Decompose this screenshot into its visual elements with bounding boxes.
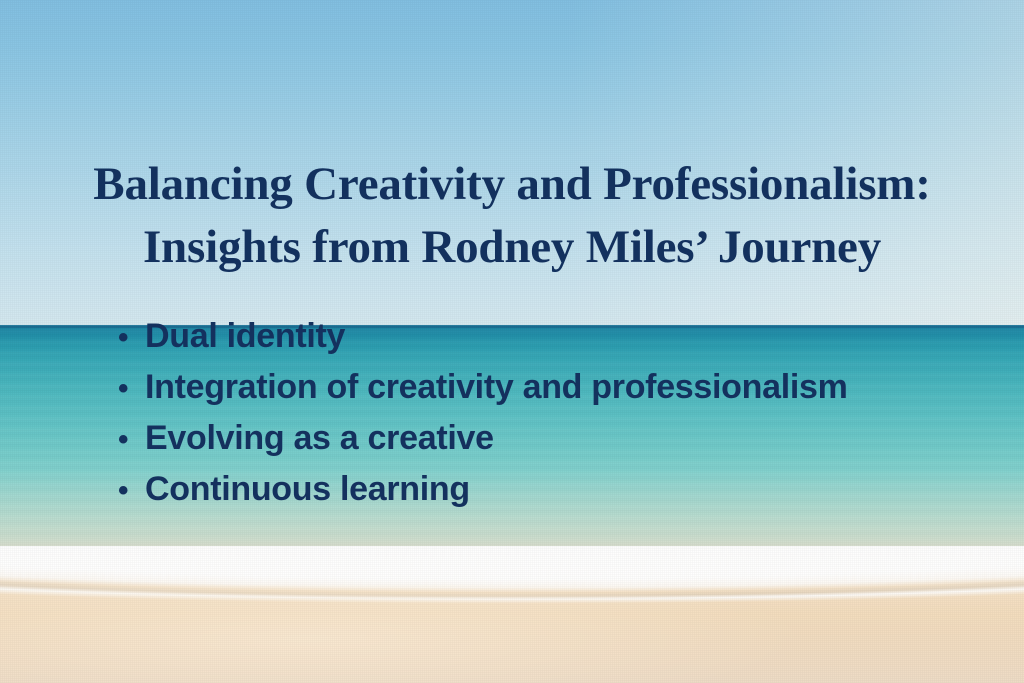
bullet-item-label: Evolving as a creative: [145, 418, 494, 458]
bullet-item-label: Continuous learning: [145, 469, 470, 509]
bullet-item-integration: • Integration of creativity and professi…: [118, 367, 848, 418]
bullet-item-evolving: • Evolving as a creative: [118, 418, 848, 469]
presentation-slide: Balancing Creativity and Professionalism…: [0, 0, 1024, 683]
bullet-point-icon: •: [118, 318, 145, 358]
bullet-list: • Dual identity • Integration of creativ…: [118, 316, 848, 520]
bullet-item-dual-identity: • Dual identity: [118, 316, 848, 367]
bullet-point-icon: •: [118, 420, 145, 460]
slide-title: Balancing Creativity and Professionalism…: [40, 153, 984, 279]
bullet-point-icon: •: [118, 471, 145, 511]
bullet-point-icon: •: [118, 369, 145, 409]
bullet-item-label: Dual identity: [145, 316, 345, 356]
bullet-item-continuous-learning: • Continuous learning: [118, 469, 848, 520]
slide-title-line-1: Balancing Creativity and Professionalism…: [40, 153, 984, 216]
bullet-item-label: Integration of creativity and profession…: [145, 367, 848, 407]
slide-title-line-2: Insights from Rodney Miles’ Journey: [40, 216, 984, 279]
slide-content: Balancing Creativity and Professionalism…: [0, 0, 1024, 683]
